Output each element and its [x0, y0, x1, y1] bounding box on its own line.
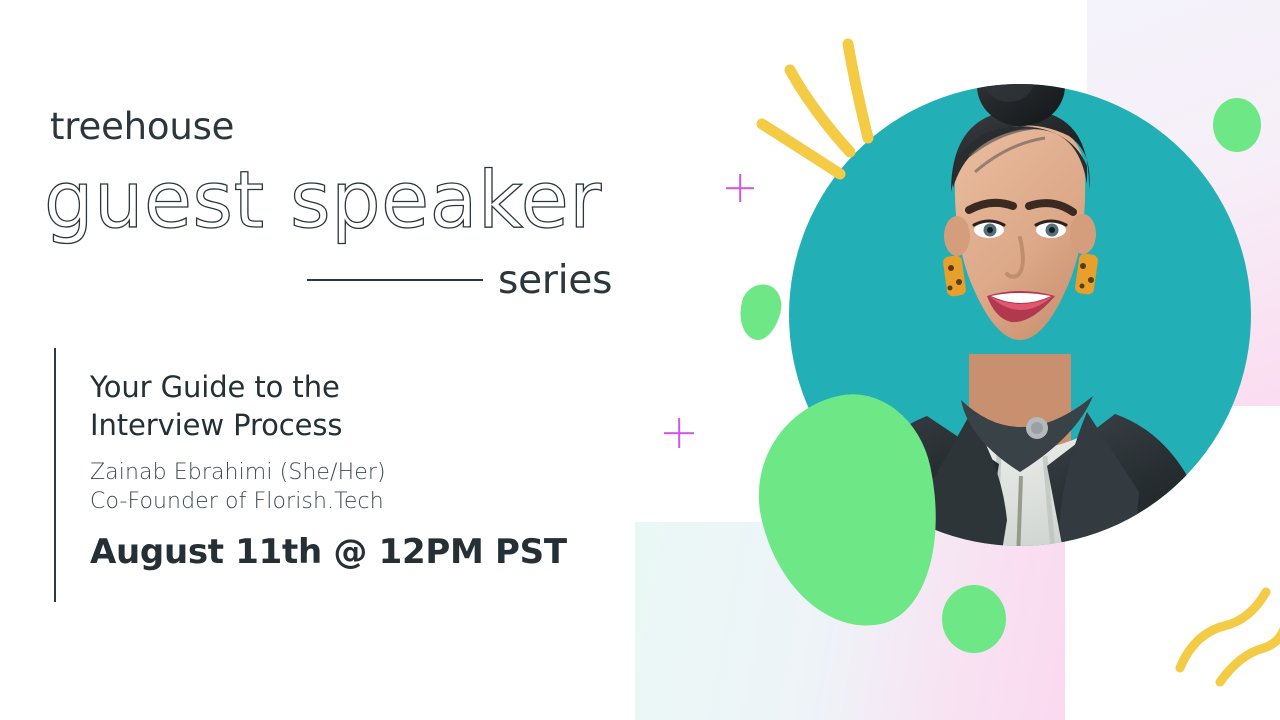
headline-guest-speaker: guest speaker [44, 162, 602, 240]
talk-title: Your Guide to the Interview Process [90, 368, 630, 445]
speaker-name: Zainab Ebrahimi (She/Her) [90, 458, 630, 488]
talk-title-line-2: Interview Process [90, 406, 630, 444]
event-datetime: August 11th @ 12PM PST [90, 535, 630, 569]
squiggle-strokes-icon [1168, 582, 1280, 694]
series-divider-rule [307, 279, 483, 281]
series-row: series [307, 258, 623, 302]
brand-name: treehouse [50, 108, 234, 145]
talk-info-block: Your Guide to the Interview Process Zain… [90, 368, 630, 569]
promo-slide: treehouse guest speaker series Your Guid… [0, 0, 1280, 720]
vertical-accent-rule [54, 348, 56, 602]
sparkle-strokes-icon [740, 28, 920, 222]
green-circle-small [942, 585, 1006, 653]
plus-mark-icon [664, 418, 694, 448]
series-label: series [498, 261, 612, 300]
speaker-details: Zainab Ebrahimi (She/Her) Co-Founder of … [90, 458, 630, 518]
speaker-role: Co-Founder of Florish.Tech [90, 487, 630, 517]
talk-title-line-1: Your Guide to the [90, 368, 630, 406]
